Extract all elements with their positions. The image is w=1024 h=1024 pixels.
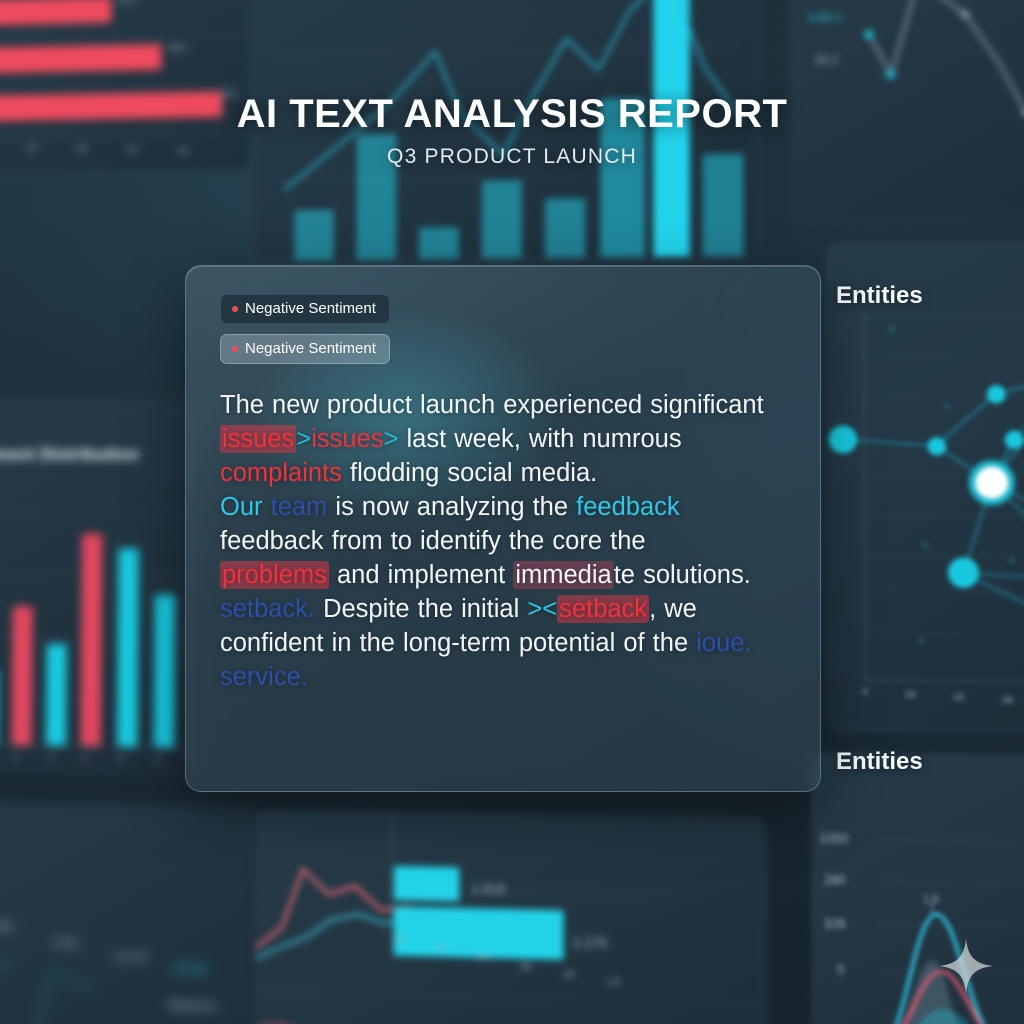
text-token: The new product launch experienced signi… [220,391,764,419]
panel-entities-network: 0 19 10 28 25 40 [827,240,1024,735]
sentiment-distribution-title: ntiment Distribution [0,444,139,465]
entity-node [987,385,1006,403]
bar [117,548,139,747]
sentiment-dot-icon [232,346,238,352]
status-badge-negative-sentiment-1[interactable]: Negative Sentiment [220,294,390,324]
entity-node [927,437,946,455]
entity-setback-highlighted[interactable]: setback [557,595,649,623]
bar [0,0,111,26]
entity-complaints[interactable]: complaints [220,459,342,487]
entity-service[interactable]: service. [220,663,308,691]
text-token: is now analyzing the [335,493,568,521]
text-token: and implement [337,561,505,589]
bar [11,606,32,746]
entity-team[interactable]: team [271,493,328,521]
analysis-text-card[interactable]: Negative Sentiment Negative Sentiment Th… [185,265,821,792]
network-lines [0,802,258,1024]
text-token: last week, with numrous [406,425,681,453]
status-badge-negative-sentiment-2[interactable]: Negative Sentiment [220,334,390,364]
text-token: feedback from to identify the core the [220,527,646,555]
bar [80,534,102,747]
entity-node [829,425,857,453]
bar [154,595,176,748]
analysis-paragraph: The new product launch experienced signi… [220,388,786,694]
bar [46,644,67,746]
report-header: AI TEXT ANALYSIS REPORT Q3 PRODUCT LAUNC… [0,92,1024,169]
entity-ioue[interactable]: ioue. [696,629,751,657]
text-token: , we [649,595,697,623]
badge-list: Negative Sentiment Negative Sentiment [220,294,786,374]
entity-issues-highlighted[interactable]: issues [220,425,296,453]
chevron-right-icon: > [383,425,398,453]
chevron-left-icon: < [542,595,557,623]
page-subtitle: Q3 PRODUCT LAUNCH [0,145,1024,169]
entity-node-highlighted [975,466,1008,499]
sparkle-icon [938,938,994,994]
entity-node [1005,431,1024,449]
badge-label: Negative Sentiment [245,340,376,357]
sentiment-dot-icon [232,306,238,312]
text-token: te solutions. [614,561,751,589]
panel-bottom-left: 4% 450 4.00 10.00 07.00 Balance [0,801,258,1024]
entity-our[interactable]: Our [220,493,263,521]
text-token: Despite the initial [323,595,519,623]
bar [0,44,162,74]
bar [394,866,460,902]
chevron-right-icon: > [296,425,311,453]
chevron-right-icon: > [527,595,542,623]
panel-sentiment-distribution: ntiment Distribution 1 2 3 4 5 6 [0,397,198,774]
text-token: flodding social media. [350,459,597,487]
entities-area-title: Entities [836,748,923,776]
entity-feedback[interactable]: feedback [576,493,680,521]
entities-network-title: Entities [836,282,923,310]
entity-setback-navy[interactable]: setback. [220,595,315,623]
panel-bottom-center: 1.816 2.270 10 10 50 50 10 1.0 [254,809,767,1024]
page-title: AI TEXT ANALYSIS REPORT [0,92,1024,137]
entity-issues[interactable]: issues [311,425,383,453]
entity-immediate-highlighted[interactable]: immedia [513,561,613,589]
entity-node [948,558,979,589]
text-token: confident in the long-term potential of … [220,629,688,657]
entity-problems-highlighted[interactable]: problems [220,561,329,589]
badge-label: Negative Sentiment [245,300,376,317]
